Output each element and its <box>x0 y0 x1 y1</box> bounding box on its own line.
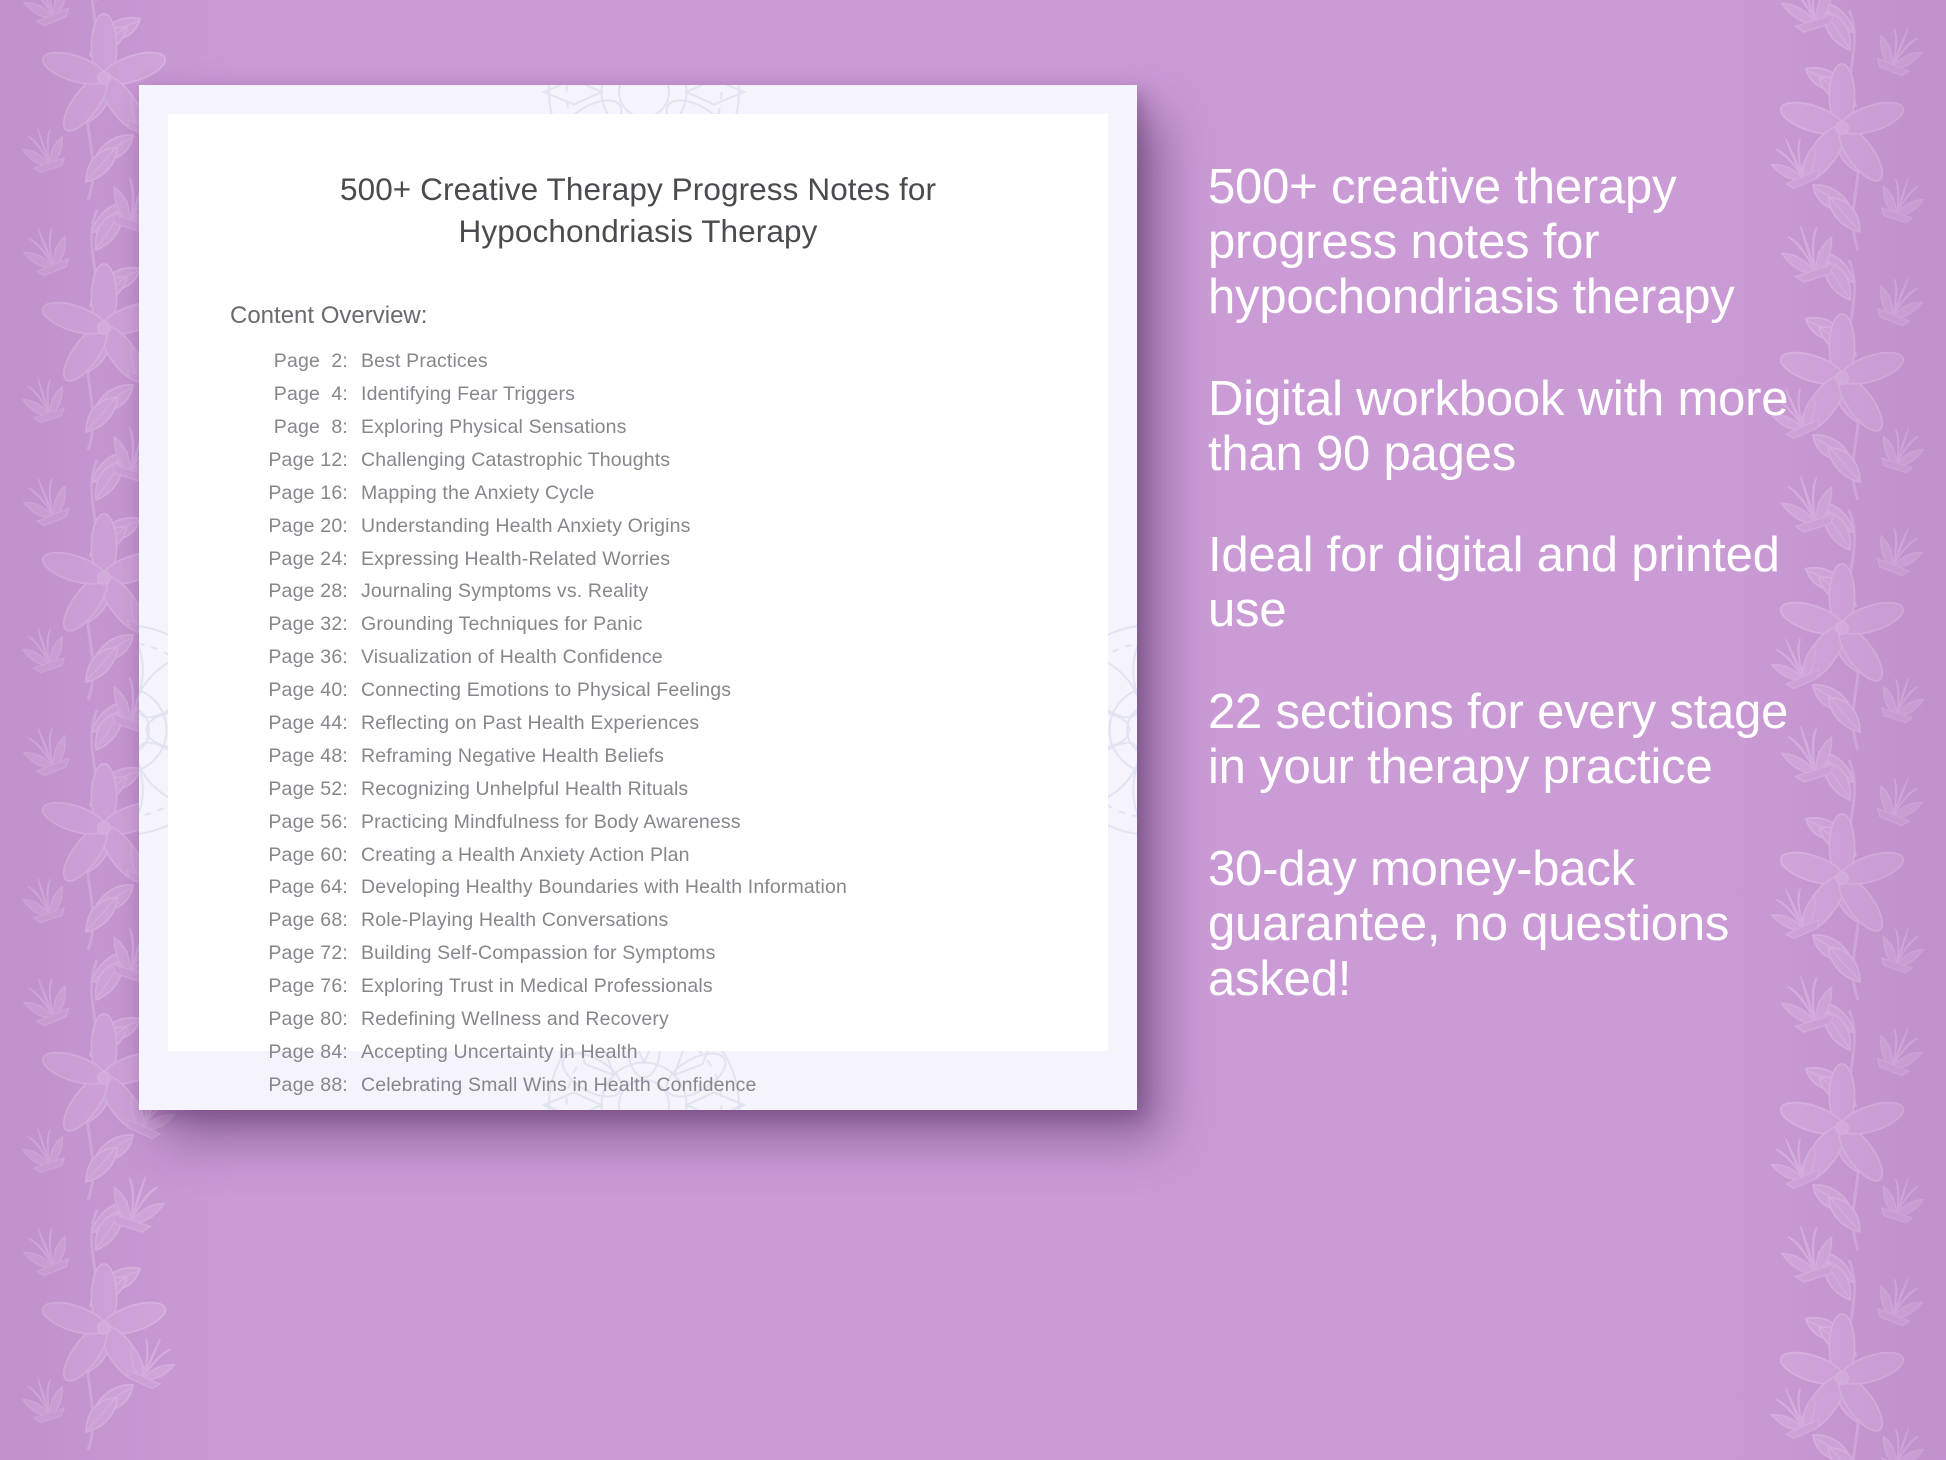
toc-page-number: Page 84: <box>256 1043 348 1063</box>
toc-row: Page 36:Visualization of Health Confiden… <box>256 648 1108 668</box>
toc-section-title: Recognizing Unhelpful Health Rituals <box>361 780 688 800</box>
content-overview-label: Content Overview: <box>230 302 1108 330</box>
toc-page-number: Page 24: <box>256 550 348 570</box>
toc-page-number: Page 60: <box>256 846 348 866</box>
toc-page-number: Page 56: <box>256 813 348 833</box>
toc-page-number: Page 48: <box>256 747 348 767</box>
toc-row: Page 44:Reflecting on Past Health Experi… <box>256 714 1108 734</box>
toc-section-title: Mapping the Anxiety Cycle <box>361 484 595 504</box>
toc-section-title: Exploring Trust in Medical Professionals <box>361 977 713 997</box>
toc-page-number: Page 40: <box>256 681 348 701</box>
toc-page-number: Page 64: <box>256 878 348 898</box>
toc-page-number: Page 36: <box>256 648 348 668</box>
toc-page-number: Page 52: <box>256 780 348 800</box>
toc-section-title: Accepting Uncertainty in Health <box>361 1043 638 1063</box>
toc-row: Page 12:Challenging Catastrophic Thought… <box>256 451 1108 471</box>
toc-section-title: Visualization of Health Confidence <box>361 648 663 668</box>
marketing-bullet-list: 500+ creative therapy progress notes for… <box>1208 160 1808 1007</box>
workbook-page-mockup: 500+ Creative Therapy Progress Notes for… <box>139 85 1137 1110</box>
toc-row: Page 56:Practicing Mindfulness for Body … <box>256 813 1108 833</box>
toc-row: Page 40:Connecting Emotions to Physical … <box>256 681 1108 701</box>
toc-section-title: Reframing Negative Health Beliefs <box>361 747 664 767</box>
toc-section-title: Expressing Health-Related Worries <box>361 550 670 570</box>
toc-page-number: Page 88: <box>256 1076 348 1096</box>
toc-row: Page 28:Journaling Symptoms vs. Reality <box>256 582 1108 602</box>
toc-section-title: Developing Healthy Boundaries with Healt… <box>361 878 847 898</box>
toc-row: Page 8:Exploring Physical Sensations <box>256 418 1108 438</box>
toc-section-title: Connecting Emotions to Physical Feelings <box>361 681 731 701</box>
page-surface: 500+ Creative Therapy Progress Notes for… <box>139 85 1137 1110</box>
toc-page-number: Page 2: <box>256 352 348 372</box>
toc-page-number: Page 92: <box>256 1109 348 1110</box>
toc-page-number: Page 80: <box>256 1010 348 1030</box>
toc-page-number: Page 12: <box>256 451 348 471</box>
toc-row: Page 52:Recognizing Unhelpful Health Rit… <box>256 780 1108 800</box>
toc-section-title: Challenging Catastrophic Thoughts <box>361 451 670 471</box>
toc-row: Page 60:Creating a Health Anxiety Action… <box>256 846 1108 866</box>
toc-row: Page 64:Developing Healthy Boundaries wi… <box>256 878 1108 898</box>
toc-page-number: Page 72: <box>256 944 348 964</box>
toc-row: Page 24:Expressing Health-Related Worrie… <box>256 550 1108 570</box>
toc-section-title: Identifying Fear Triggers <box>361 385 575 405</box>
toc-page-number: Page 4: <box>256 385 348 405</box>
toc-section-title: Notes Template <box>361 1109 498 1110</box>
marketing-bullet: 22 sections for every stage in your ther… <box>1208 685 1808 795</box>
toc-row: Page 76:Exploring Trust in Medical Profe… <box>256 977 1108 997</box>
toc-section-title: Journaling Symptoms vs. Reality <box>361 582 649 602</box>
toc-page-number: Page 76: <box>256 977 348 997</box>
page-title: 500+ Creative Therapy Progress Notes for… <box>264 169 1012 252</box>
toc-section-title: Role-Playing Health Conversations <box>361 911 668 931</box>
toc-section-title: Practicing Mindfulness for Body Awarenes… <box>361 813 741 833</box>
toc-section-title: Understanding Health Anxiety Origins <box>361 517 691 537</box>
toc-page-number: Page 16: <box>256 484 348 504</box>
toc-section-title: Celebrating Small Wins in Health Confide… <box>361 1076 757 1096</box>
toc-row: Page 80:Redefining Wellness and Recovery <box>256 1010 1108 1030</box>
toc-row: Page 72:Building Self-Compassion for Sym… <box>256 944 1108 964</box>
toc-page-number: Page 68: <box>256 911 348 931</box>
toc-row: Page 84:Accepting Uncertainty in Health <box>256 1043 1108 1063</box>
marketing-bullet: 30-day money-back guarantee, no question… <box>1208 842 1808 1007</box>
toc-row: Page 48:Reframing Negative Health Belief… <box>256 747 1108 767</box>
toc-section-title: Reflecting on Past Health Experiences <box>361 714 699 734</box>
toc-section-title: Creating a Health Anxiety Action Plan <box>361 846 690 866</box>
toc-row: Page 32:Grounding Techniques for Panic <box>256 615 1108 635</box>
toc-section-title: Exploring Physical Sensations <box>361 418 627 438</box>
toc-row: Page 88:Celebrating Small Wins in Health… <box>256 1076 1108 1096</box>
toc-row: Page 68:Role-Playing Health Conversation… <box>256 911 1108 931</box>
product-listing-canvas: 500+ Creative Therapy Progress Notes for… <box>0 0 1946 1460</box>
page-content-area: 500+ Creative Therapy Progress Notes for… <box>168 114 1108 1051</box>
toc-page-number: Page 8: <box>256 418 348 438</box>
table-of-contents: Page 2:Best PracticesPage 4:Identifying … <box>256 352 1108 1110</box>
toc-row: Page 92:Notes Template <box>256 1109 1108 1110</box>
toc-section-title: Best Practices <box>361 352 488 372</box>
toc-row: Page 20:Understanding Health Anxiety Ori… <box>256 517 1108 537</box>
toc-section-title: Redefining Wellness and Recovery <box>361 1010 669 1030</box>
toc-row: Page 16:Mapping the Anxiety Cycle <box>256 484 1108 504</box>
toc-section-title: Building Self-Compassion for Symptoms <box>361 944 716 964</box>
marketing-bullet: 500+ creative therapy progress notes for… <box>1208 160 1808 325</box>
marketing-bullet: Digital workbook with more than 90 pages <box>1208 372 1808 482</box>
toc-row: Page 2:Best Practices <box>256 352 1108 372</box>
marketing-bullet: Ideal for digital and printed use <box>1208 528 1808 638</box>
toc-page-number: Page 44: <box>256 714 348 734</box>
toc-row: Page 4:Identifying Fear Triggers <box>256 385 1108 405</box>
toc-page-number: Page 20: <box>256 517 348 537</box>
toc-section-title: Grounding Techniques for Panic <box>361 615 643 635</box>
toc-page-number: Page 28: <box>256 582 348 602</box>
toc-page-number: Page 32: <box>256 615 348 635</box>
